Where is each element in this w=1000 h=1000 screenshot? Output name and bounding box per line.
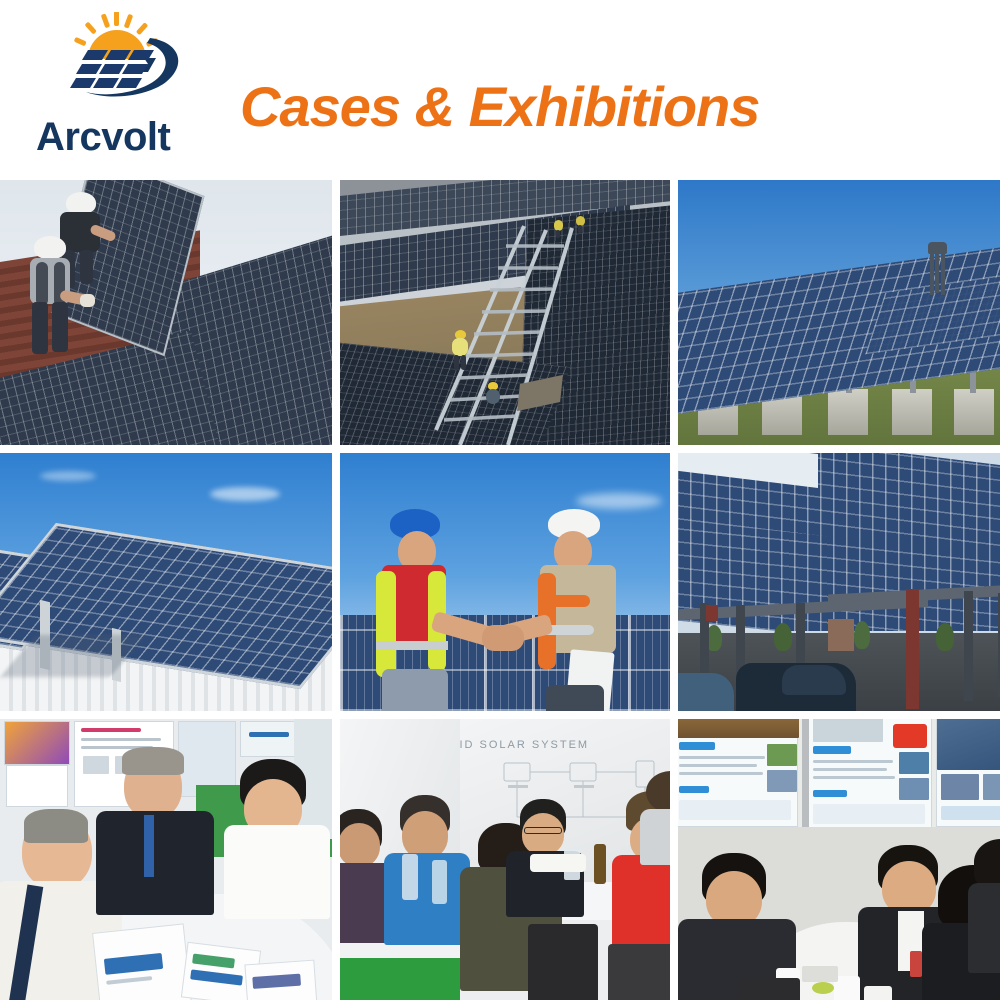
tissue-box — [802, 966, 838, 982]
attendee-blue-polo — [384, 797, 468, 937]
plate — [530, 854, 586, 872]
bag-on-table — [738, 978, 800, 1000]
worker-kneeling — [486, 382, 500, 412]
red-starburst-badge — [893, 724, 927, 748]
worker-lower — [30, 236, 78, 356]
gallery-item-commercial-rooftop-array-construction[interactable] — [340, 180, 670, 445]
water-bottle-1 — [402, 854, 418, 900]
gallery-grid: HYBRID SOLAR SYSTEM — [0, 180, 1000, 1000]
badge — [910, 951, 922, 977]
worker-far-2 — [576, 216, 585, 233]
car-blue — [678, 673, 734, 711]
scene-ground-mount — [678, 180, 1000, 445]
water-tower-icon — [924, 242, 950, 288]
poster-left — [678, 719, 798, 827]
open-brochure — [92, 923, 192, 1000]
gallery-item-metal-roof-solar-array[interactable] — [0, 453, 332, 711]
scene-handshake — [340, 453, 670, 711]
engineer-right — [516, 509, 632, 711]
worker-far-1 — [554, 220, 563, 238]
gallery-item-solar-carport-parking[interactable] — [678, 453, 1000, 711]
scene-hybrid-booth: HYBRID SOLAR SYSTEM — [340, 719, 670, 1000]
poster-center — [806, 719, 932, 829]
scene-carport — [678, 453, 1000, 711]
gallery-item-expo-hybrid-solar-system-booth[interactable]: HYBRID SOLAR SYSTEM — [340, 719, 670, 1000]
scene-residential-rooftop — [0, 180, 332, 445]
mounting-rails — [340, 180, 670, 445]
red-column — [906, 589, 919, 709]
gallery-item-engineers-handshake-solar[interactable] — [340, 453, 670, 711]
paper-cup-3 — [864, 986, 892, 1000]
glasses-icon — [524, 827, 562, 834]
scene-business-meeting — [678, 719, 1000, 1000]
solar-sun-swoosh-icon — [48, 12, 198, 112]
page-root: Arcvolt Cases & Exhibitions — [0, 0, 1000, 1000]
water-bottle-2 — [432, 860, 447, 904]
visitor-center — [96, 753, 216, 913]
chair-back-2 — [608, 944, 670, 1000]
engineer-left — [376, 509, 486, 711]
hi-vis-vest-left — [376, 571, 396, 677]
page-header: Arcvolt Cases & Exhibitions — [0, 0, 1000, 178]
fruit — [812, 982, 834, 994]
worker-on-rails — [452, 330, 468, 370]
clasped-hands — [482, 625, 524, 651]
chair-back-1 — [528, 924, 598, 1000]
green-booth-skirt — [340, 954, 460, 1000]
scene-metal-roof — [0, 453, 332, 711]
attendee-back-right — [968, 839, 1000, 959]
attendee-curly-hair — [640, 771, 670, 851]
brand-wordmark: Arcvolt — [36, 115, 170, 160]
page-title: Cases & Exhibitions — [240, 74, 759, 139]
brand-logo[interactable]: Arcvolt — [30, 12, 210, 162]
host-right — [218, 763, 330, 913]
gallery-item-ground-mount-solar-farm[interactable] — [678, 180, 1000, 445]
gallery-item-expo-booth-brochure-meeting[interactable] — [0, 719, 332, 1000]
poster-right — [936, 719, 1000, 827]
bottle-amber — [594, 844, 606, 884]
scene-expo-brochures — [0, 719, 332, 1000]
gallery-item-expo-business-meeting-booth[interactable] — [678, 719, 1000, 1000]
gallery-item-residential-rooftop-installation[interactable] — [0, 180, 332, 445]
arcvolt-logo-icon — [48, 12, 198, 112]
jeans — [382, 669, 448, 711]
scene-commercial-rooftop — [340, 180, 670, 445]
